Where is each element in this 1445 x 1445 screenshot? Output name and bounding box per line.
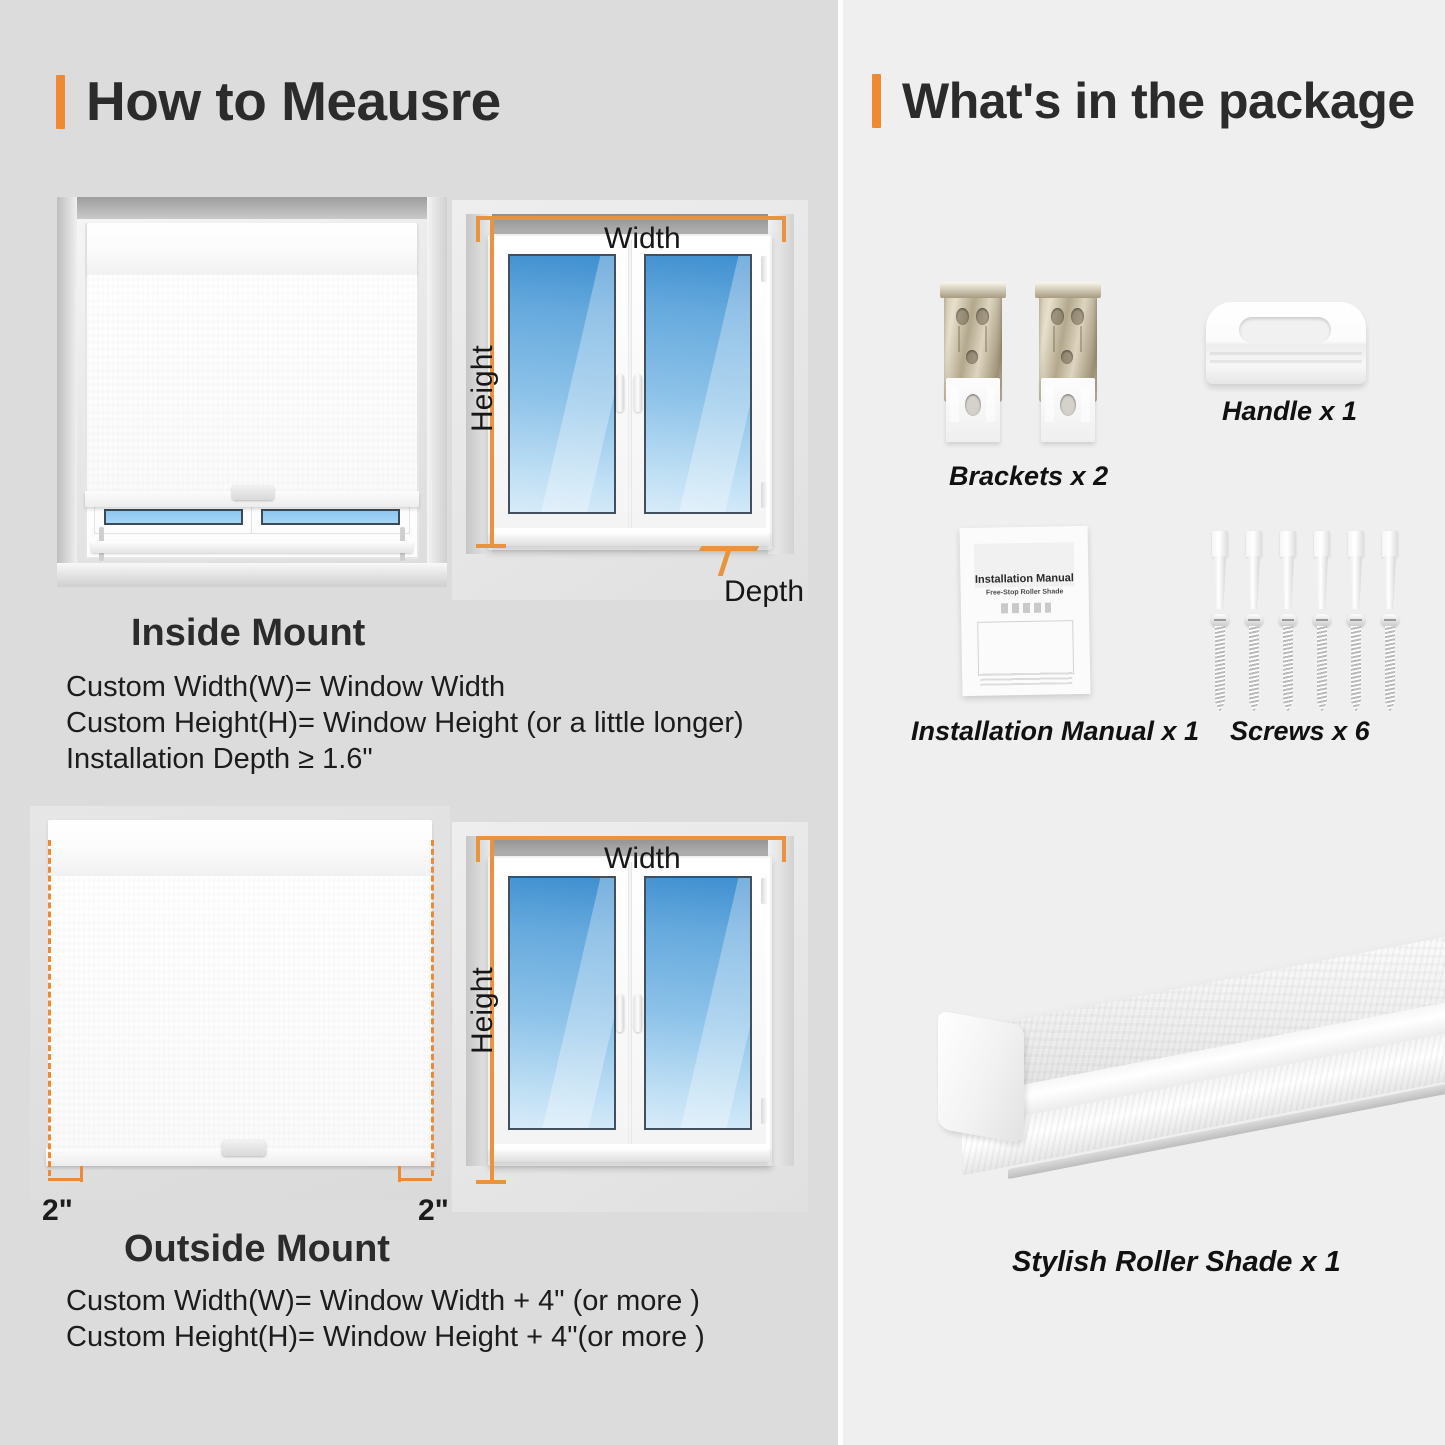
anchor-6-head — [1382, 531, 1398, 557]
outside-sash-left — [494, 862, 630, 1144]
inside-spec-2: Custom Height(H)= Window Height (or a li… — [66, 707, 744, 740]
outside-mount-title: Outside Mount — [124, 1228, 390, 1271]
outside-window-frame — [488, 856, 772, 1166]
anchor-1-body — [1214, 556, 1226, 609]
roller-shade-end-cap — [938, 1010, 1024, 1143]
screw-4 — [1313, 614, 1331, 712]
overhang-tick-left — [80, 1166, 83, 1182]
screw-5-shaft — [1351, 626, 1361, 712]
screw-1-head — [1211, 614, 1229, 627]
overhang-guide-left — [48, 840, 51, 1176]
anchor-3-body — [1282, 556, 1294, 609]
screw-5 — [1347, 614, 1365, 712]
glass-pane-left — [508, 254, 616, 514]
handle-grip-slot — [1239, 317, 1331, 343]
inside-spec-1: Custom Width(W)= Window Width — [66, 671, 505, 704]
bracket-1-slot-right — [986, 388, 995, 422]
outside-mount-window-diagram: Width Height — [452, 822, 808, 1212]
manual-cover-illustration-box — [977, 620, 1074, 676]
bracket-2 — [1033, 282, 1103, 442]
bracket-2-slot-right — [1081, 388, 1090, 422]
manual-footer-text — [980, 670, 1072, 686]
width-label: Width — [604, 222, 681, 256]
recess-right-edge — [427, 197, 447, 587]
bracket-1-hole-c — [966, 350, 978, 364]
screw-1-shaft — [1215, 626, 1225, 712]
outside-mount-shade-illustration — [30, 806, 450, 1201]
window-handle-left[interactable] — [616, 374, 624, 412]
outside-width-tick-left — [476, 836, 480, 862]
glass-glare-left — [529, 254, 616, 514]
screw-4-shaft — [1317, 626, 1327, 712]
sash-right — [630, 240, 766, 528]
recess-left-edge — [57, 197, 77, 587]
anchor-1-head — [1212, 531, 1228, 557]
roller-shade-product — [900, 880, 1445, 1215]
outside-glass-pane-left — [508, 876, 616, 1130]
outside-width-label: Width — [604, 842, 681, 876]
bracket-2-hole-c — [1061, 350, 1073, 364]
accent-bar-left-icon — [56, 75, 65, 129]
screw-6-shaft — [1385, 626, 1395, 712]
bracket-1-rib-a — [958, 326, 960, 352]
bracket-1-top-flange — [940, 282, 1006, 298]
infographic-page: How to Meausre — [0, 0, 1445, 1445]
wall-anchor-2 — [1244, 531, 1264, 609]
screw-3 — [1279, 614, 1297, 712]
screw-3-head — [1279, 614, 1297, 627]
anchor-2-body — [1248, 556, 1260, 609]
anchor-4-body — [1316, 556, 1328, 609]
glass-glare-right — [667, 254, 752, 514]
bracket-1-hole-a — [956, 308, 969, 325]
frame-hinge-top-right-icon — [761, 256, 767, 282]
depth-label: Depth — [724, 575, 804, 609]
outside-frame-hinge-bottom-right-icon — [761, 1098, 767, 1124]
screw-1-slot — [1214, 619, 1226, 621]
screw-4-head — [1313, 614, 1331, 627]
outside-window-stool — [490, 1148, 770, 1162]
anchor-6-body — [1384, 556, 1396, 609]
package-title: What's in the package — [902, 76, 1415, 126]
accent-bar-right-icon — [872, 74, 881, 128]
overhang-label-left: 2" — [42, 1194, 73, 1228]
bracket-1-slot-left — [950, 388, 959, 422]
width-dim-line — [476, 216, 786, 220]
outside-window-handle-left[interactable] — [616, 994, 624, 1032]
center-mullion — [628, 240, 632, 528]
roller-shade-label: Stylish Roller Shade x 1 — [1012, 1246, 1341, 1279]
outside-shade-pull-handle[interactable] — [222, 1140, 266, 1156]
outside-window-handle-right[interactable] — [634, 994, 642, 1032]
inside-mount-title: Inside Mount — [131, 612, 365, 655]
outside-shade-valance — [48, 820, 432, 876]
window-stool — [490, 532, 770, 546]
handle-part — [1206, 302, 1366, 384]
outside-height-label: Height — [466, 967, 500, 1054]
anchor-5-head — [1348, 531, 1364, 557]
wall-anchor-6 — [1380, 531, 1400, 609]
bracket-1-screw-hole — [965, 394, 981, 416]
outside-width-tick-right — [782, 836, 786, 862]
bracket-2-rib-b — [1080, 326, 1082, 352]
handle-groove-2 — [1210, 360, 1362, 363]
manual-cover-subtitle: Free-Stop Roller Shade — [961, 588, 1089, 597]
height-tick-bottom — [476, 544, 506, 548]
outside-spec-1: Custom Width(W)= Window Width + 4" (or m… — [66, 1285, 700, 1318]
overhang-dim-left — [48, 1178, 82, 1181]
outside-frame-hinge-top-right-icon — [761, 878, 767, 904]
recess-top-edge — [57, 197, 447, 219]
inside-mount-shade-illustration — [57, 197, 447, 587]
sash-left — [494, 240, 630, 528]
outside-shade-fabric — [48, 876, 432, 1148]
screw-5-slot — [1350, 619, 1362, 621]
handle-label: Handle x 1 — [1222, 396, 1357, 427]
how-to-measure-heading: How to Meausre — [56, 74, 501, 129]
shade-valance — [87, 223, 417, 275]
screw-2 — [1245, 614, 1263, 712]
overhang-tick-right — [398, 1166, 401, 1182]
screw-3-shaft — [1283, 626, 1293, 712]
screw-6-slot — [1384, 619, 1396, 621]
bracket-2-slot-left — [1045, 388, 1054, 422]
window-frame — [488, 234, 772, 550]
manual-label: Installation Manual x 1 — [911, 716, 1199, 747]
anchor-5-body — [1350, 556, 1362, 609]
bracket-2-screw-hole — [1060, 394, 1076, 416]
window-handle-right[interactable] — [634, 374, 642, 412]
window-sill — [91, 541, 413, 553]
outside-height-tick-bottom — [476, 1180, 506, 1184]
screw-2-head — [1245, 614, 1263, 627]
inside-mount-window-diagram: Width Height Depth — [452, 200, 808, 600]
overhang-guide-right — [431, 840, 434, 1176]
outside-glass-glare-left — [529, 876, 616, 1130]
anchor-3-head — [1280, 531, 1296, 557]
inside-spec-3: Installation Depth ≥ 1.6" — [66, 743, 373, 776]
screw-6-head — [1381, 614, 1399, 627]
screws-label: Screws x 6 — [1230, 716, 1370, 747]
width-tick-right — [782, 216, 786, 242]
screw-3-slot — [1282, 619, 1294, 621]
bracket-2-hole-b — [1071, 308, 1084, 325]
manual-cover-title: Installation Manual — [960, 572, 1088, 586]
overhang-dim-right — [398, 1178, 432, 1181]
bracket-1-rib-b — [985, 326, 987, 352]
anchor-4-head — [1314, 531, 1330, 557]
manual-cover-marks — [1001, 603, 1051, 614]
bracket-2-rib-a — [1053, 326, 1055, 352]
outside-spec-2: Custom Height(H)= Window Height + 4"(or … — [66, 1321, 705, 1354]
outside-sash-right — [630, 862, 766, 1144]
overhang-label-right: 2" — [418, 1194, 449, 1228]
wall-anchor-3 — [1278, 531, 1298, 609]
screw-2-slot — [1248, 619, 1260, 621]
width-tick-left — [476, 216, 480, 242]
handle-groove-1 — [1210, 352, 1362, 355]
brackets-label: Brackets x 2 — [949, 461, 1108, 492]
shade-fabric — [87, 275, 417, 491]
glass-left — [104, 509, 243, 525]
screw-4-slot — [1316, 619, 1328, 621]
bracket-1-hole-b — [976, 308, 989, 325]
package-heading: What's in the package — [872, 74, 1415, 128]
outside-width-dim-line — [476, 836, 786, 840]
glass-right — [261, 509, 400, 525]
wall-anchor-1 — [1210, 531, 1230, 609]
shade-pull-handle[interactable] — [232, 485, 274, 500]
screw-1 — [1211, 614, 1229, 712]
outside-glass-glare-right — [667, 876, 752, 1130]
wall-anchor-4 — [1312, 531, 1332, 609]
screw-6 — [1381, 614, 1399, 712]
glass-pane-right — [644, 254, 752, 514]
outside-center-mullion — [628, 862, 632, 1144]
anchor-2-head — [1246, 531, 1262, 557]
bracket-2-top-flange — [1035, 282, 1101, 298]
screw-5-head — [1347, 614, 1365, 627]
screw-2-shaft — [1249, 626, 1259, 712]
frame-hinge-bottom-right-icon — [761, 482, 767, 508]
outside-glass-pane-right — [644, 876, 752, 1130]
how-to-measure-title: How to Meausre — [86, 74, 501, 129]
bracket-1 — [938, 282, 1008, 442]
wall-anchor-5 — [1346, 531, 1366, 609]
height-label: Height — [466, 345, 500, 432]
installation-manual-part: Installation Manual Free-Stop Roller Sha… — [960, 526, 1091, 696]
bracket-2-hole-a — [1051, 308, 1064, 325]
recess-bottom-edge — [57, 563, 447, 587]
